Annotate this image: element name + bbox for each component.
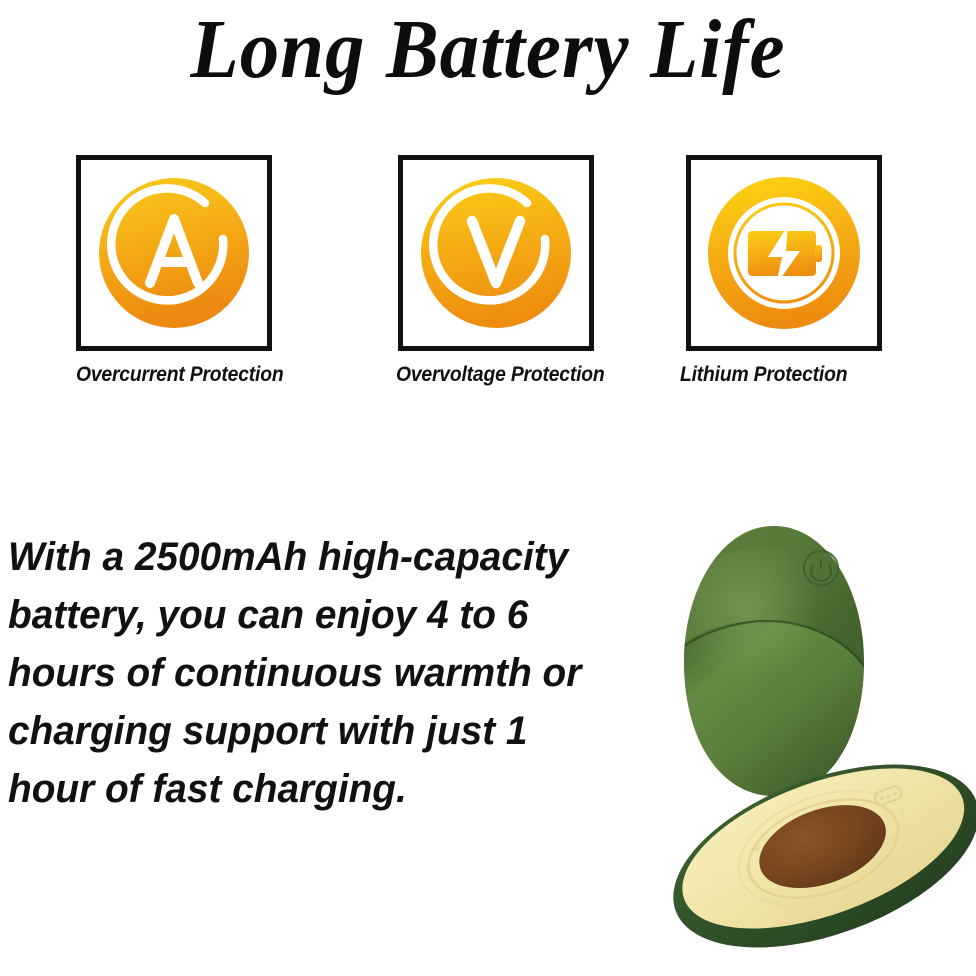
avocado-hand-warmer-illustration	[596, 496, 976, 976]
description-text: With a 2500mAh high-capacity battery, yo…	[8, 528, 607, 818]
icon-frame	[686, 155, 882, 351]
page-title: Long Battery Life	[29, 6, 946, 94]
feature-row: Overcurrent Protection	[0, 155, 976, 395]
closed-egg-shell	[665, 526, 868, 806]
overvoltage-volt-icon	[410, 167, 582, 339]
feature-caption: Overvoltage Protection	[396, 363, 587, 387]
icon-frame	[76, 155, 272, 351]
icon-frame	[398, 155, 594, 351]
feature-lithium: Lithium Protection	[686, 155, 892, 387]
feature-caption: Lithium Protection	[680, 363, 875, 387]
product-image	[596, 496, 976, 976]
feature-overvoltage: Overvoltage Protection	[398, 155, 604, 387]
lithium-battery-bolt-icon	[698, 167, 870, 339]
power-button	[804, 551, 838, 585]
feature-overcurrent: Overcurrent Protection	[76, 155, 282, 387]
feature-caption: Overcurrent Protection	[76, 363, 266, 387]
infographic-page: Long Battery Life	[0, 0, 976, 976]
overcurrent-ampere-icon	[88, 167, 260, 339]
